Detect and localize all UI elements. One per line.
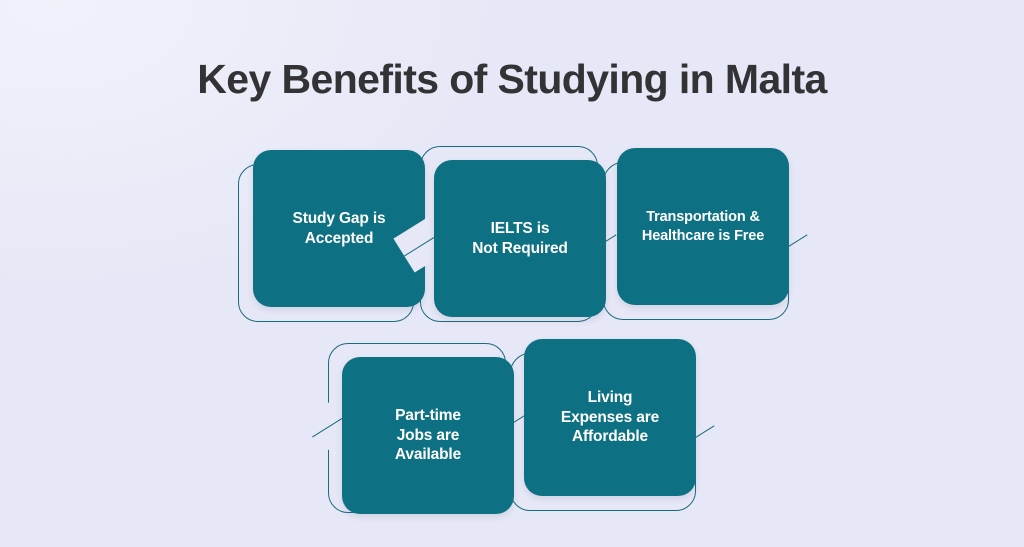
infographic-canvas: Key Benefits of Studying in Malta Study … — [0, 0, 1024, 547]
benefit-cards-group: Study Gap is Accepted IELTS is Not Requi… — [0, 0, 1024, 547]
benefit-card-part-time-jobs[interactable]: Part-time Jobs are Available — [328, 343, 520, 515]
card-tile[interactable]: Living Expenses are Affordable — [524, 339, 696, 496]
benefit-card-transport-healthcare[interactable]: Transportation & Healthcare is Free — [603, 148, 803, 320]
benefit-card-label: IELTS is Not Required — [465, 219, 575, 259]
benefit-card-label: Transportation & Healthcare is Free — [635, 208, 771, 245]
card-tile[interactable]: IELTS is Not Required — [434, 160, 606, 317]
benefit-card-ielts[interactable]: IELTS is Not Required — [420, 146, 612, 322]
card-tile[interactable]: Part-time Jobs are Available — [342, 357, 514, 514]
benefit-card-label: Study Gap is Accepted — [286, 209, 393, 249]
card-tile[interactable]: Transportation & Healthcare is Free — [617, 148, 789, 305]
benefit-card-label: Part-time Jobs are Available — [388, 406, 468, 465]
benefit-card-label: Living Expenses are Affordable — [554, 388, 666, 447]
card-tile[interactable]: Study Gap is Accepted — [253, 150, 425, 307]
benefit-card-living-expenses[interactable]: Living Expenses are Affordable — [510, 339, 710, 515]
